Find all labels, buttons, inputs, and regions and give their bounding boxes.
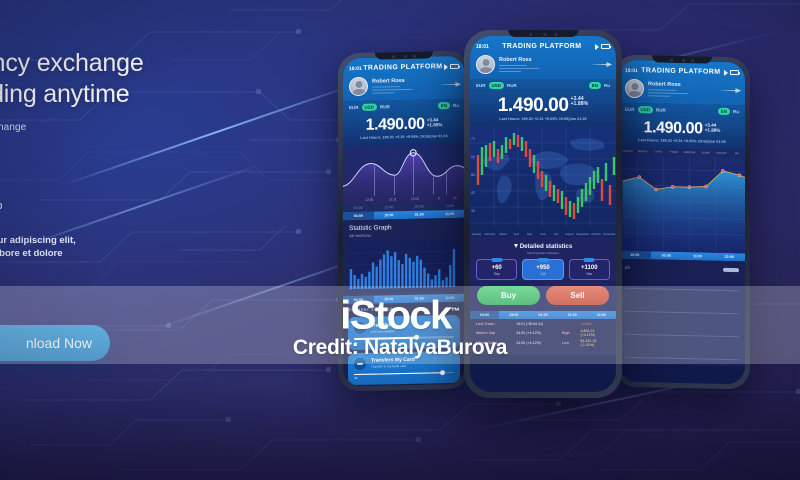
price-value: 1.490.00 bbox=[644, 120, 703, 137]
app-header: 18:01 TRADING PLATFORM Robert Ross bbox=[619, 60, 745, 106]
right-section-label: ph bbox=[625, 265, 630, 270]
last-hours-text: Last Hours: 199.31 +0.31 +0.05% 19:55|Ja… bbox=[625, 138, 739, 144]
user-name: Robert Ross bbox=[372, 78, 412, 85]
card-tag-icon bbox=[537, 258, 548, 262]
price-change-pct: +1.88% bbox=[571, 102, 589, 107]
month-label: September bbox=[576, 233, 589, 236]
currency-bar[interactable]: EUR USD RUR EN Ru bbox=[470, 79, 616, 92]
time-label[interactable]: 01:00 bbox=[404, 294, 435, 303]
user-name: Robert Ross bbox=[648, 81, 688, 88]
month-label: August bbox=[563, 233, 576, 236]
time-label[interactable]: 11:00 bbox=[682, 252, 714, 261]
status-time: 18:01 bbox=[349, 65, 362, 71]
table-row: Market Cap 34.00 (+4.12%) High 4,801.21 … bbox=[476, 329, 610, 337]
signal-icon bbox=[444, 64, 448, 70]
signal-icon bbox=[724, 69, 728, 75]
detailed-statistics-title: Detailed statistics bbox=[470, 237, 616, 250]
stat-key: Mined Coins bbox=[476, 341, 516, 345]
card-tag-icon bbox=[584, 258, 595, 262]
hero-subline: ons for exchange bbox=[0, 122, 248, 133]
floor-shadow bbox=[0, 388, 800, 480]
app-header: 18:01 TRADING PLATFORM Robert Ross bbox=[343, 56, 465, 102]
month-label: IMPERIAL bbox=[682, 151, 698, 154]
month-label: November bbox=[603, 233, 616, 236]
phone-notch bbox=[652, 55, 712, 63]
avatar bbox=[349, 77, 368, 96]
user-profile[interactable]: Robert Ross bbox=[349, 75, 459, 96]
lang-en[interactable]: EN bbox=[438, 102, 450, 109]
currency-eur[interactable]: EUR bbox=[625, 107, 635, 112]
table-row: Last Trade : 19:01 (^$144.41) -0.44% bbox=[476, 322, 610, 326]
profile-meta-bars bbox=[499, 65, 539, 72]
card-icon bbox=[354, 322, 366, 334]
uiux-title: I/UX bbox=[0, 167, 248, 198]
time-label[interactable]: 01:00 bbox=[528, 311, 557, 319]
buy-button[interactable]: Buy bbox=[477, 286, 540, 305]
currency-rur[interactable]: RUR bbox=[656, 107, 666, 112]
price-axis-label: 50 bbox=[471, 173, 475, 177]
download-now-button[interactable]: nload Now bbox=[0, 325, 110, 361]
phone-left-screen: 18:01 TRADING PLATFORM Robert Ross bbox=[343, 56, 465, 387]
time-label[interactable]: 11:00 bbox=[435, 210, 466, 219]
avatar bbox=[476, 55, 495, 74]
wave-marker-label: 12:00 bbox=[365, 198, 373, 202]
headline-line-2: , trading anytime bbox=[0, 79, 248, 110]
phone-notch bbox=[508, 30, 578, 37]
sell-button[interactable]: Sell bbox=[546, 286, 609, 305]
currency-usd[interactable]: USD bbox=[489, 82, 505, 89]
price-block: 1.490.00 +3.44 +1.88% Last Hours: 199.31… bbox=[470, 92, 616, 127]
avatar bbox=[625, 79, 644, 98]
time-label[interactable]: 15:00 bbox=[499, 311, 528, 319]
time-label[interactable]: 15:00 bbox=[619, 251, 651, 260]
status-icons bbox=[444, 63, 459, 69]
market-stats-table: Last Trade : 19:01 (^$144.41) -0.44% Mar… bbox=[470, 319, 616, 355]
area-chart bbox=[619, 155, 745, 254]
month-label: MARCH bbox=[635, 150, 651, 153]
battery-icon bbox=[450, 64, 459, 69]
time-label[interactable]: 22:00 bbox=[587, 311, 616, 319]
wave-chart: 12:00 11:11 16:02 0 16 bbox=[343, 144, 465, 205]
stat-month: Sep bbox=[479, 272, 514, 276]
time-axis-bar[interactable]: 04:00 15:00 01:00 11:00 22:00 bbox=[470, 311, 616, 319]
month-label: January bbox=[470, 233, 483, 236]
month-label: February bbox=[483, 233, 496, 236]
stat-card[interactable]: +1100 Nov bbox=[569, 259, 610, 280]
currency-usd[interactable]: USD bbox=[638, 106, 654, 113]
month-axis: January February March April May June Ju… bbox=[470, 233, 616, 236]
app-title: TRADING PLATFORM bbox=[502, 43, 581, 50]
headline-line-1: urrency exchange bbox=[0, 49, 144, 77]
battery-icon bbox=[601, 44, 610, 49]
month-label: July bbox=[550, 233, 563, 236]
lorem-line-1: , consectetur adipiscing elit, bbox=[0, 234, 248, 247]
lang-en[interactable]: EN bbox=[589, 82, 601, 89]
user-profile[interactable]: Robert Ross bbox=[625, 79, 739, 100]
stat-card[interactable]: +950 Oct bbox=[522, 259, 563, 280]
statistic-bar-chart bbox=[347, 239, 461, 293]
stat-value: +1100 bbox=[572, 265, 607, 271]
price-block: 1.490.00 +3.44 +1.88% Last Hours: 199.31… bbox=[343, 112, 465, 147]
price-axis-label: 60 bbox=[471, 155, 475, 159]
stat-value: +60 bbox=[479, 265, 514, 271]
month-label: April bbox=[510, 233, 523, 236]
chevron-down-icon bbox=[514, 244, 518, 248]
stat-val: 34.00 (+4.12%) bbox=[516, 331, 562, 335]
payment-card-transfers[interactable]: Transfers Low commission 20 bbox=[348, 315, 460, 350]
time-label[interactable]: 15:00 bbox=[374, 295, 405, 304]
currency-usd[interactable]: USD bbox=[362, 104, 378, 111]
currency-rur[interactable]: RUR bbox=[507, 83, 517, 88]
stat-val2: $1,421.33 (-1.41%) bbox=[580, 339, 609, 347]
phone-right: 18:01 TRADING PLATFORM Robert Ross bbox=[614, 55, 750, 390]
battery-icon bbox=[730, 70, 739, 75]
uiux-subtitle: Mobile App bbox=[0, 200, 248, 212]
stat-val: 19:01 (^$144.41) bbox=[516, 322, 562, 326]
card-tag-icon bbox=[491, 258, 502, 262]
poster-canvas: urrency exchange , trading anytime ons f… bbox=[0, 0, 800, 480]
lorem-line-2: didunt ut labore et dolore bbox=[0, 247, 248, 260]
stat-val2: -0.44% bbox=[580, 322, 609, 326]
stat-month: Oct bbox=[525, 272, 560, 276]
table-row: Mined Coins 34.00 (+4.12%) Low $1,421.33… bbox=[476, 339, 610, 347]
payment-value: 20 bbox=[354, 339, 454, 345]
stat-cards: +60 Sep +950 Oct +1100 Nov bbox=[470, 259, 616, 286]
time-label[interactable]: 04:00 bbox=[343, 296, 374, 305]
month-label: FORM bbox=[666, 151, 682, 154]
lang-ru[interactable]: Ru bbox=[604, 83, 610, 88]
hero-lorem: , consectetur adipiscing elit, didunt ut… bbox=[0, 234, 248, 260]
user-name: Robert Ross bbox=[499, 57, 539, 63]
phone-right-screen: 18:01 TRADING PLATFORM Robert Ross bbox=[619, 60, 745, 385]
price-value: 1.490.00 bbox=[366, 117, 425, 134]
status-icons bbox=[595, 44, 610, 50]
month-label: June bbox=[536, 233, 549, 236]
hero-copy: urrency exchange , trading anytime ons f… bbox=[0, 48, 248, 260]
app-title: TRADING PLATFORM bbox=[363, 63, 442, 72]
stat-key: Last Trade : bbox=[476, 322, 516, 326]
currency-eur[interactable]: EUR bbox=[349, 105, 359, 110]
month-label: SUMM bbox=[698, 151, 714, 154]
phone-left: 18:01 TRADING PLATFORM Robert Ross bbox=[338, 51, 470, 392]
wave-marker-label: 16 bbox=[453, 196, 457, 200]
stat-val2: 4,801.21 (+4.12%) bbox=[580, 329, 609, 337]
phone-notch bbox=[375, 51, 433, 59]
time-label[interactable]: 04:00 bbox=[470, 311, 499, 319]
last-hours-text: Last Hours: 199.31 +0.31 +0.05% 19:55|Ja… bbox=[349, 134, 459, 140]
currency-rur[interactable]: RUR bbox=[380, 104, 390, 109]
month-label: March bbox=[497, 233, 510, 236]
last-hours-text: Last Hours: 199.31 +0.31 +0.05% 19:55|Ja… bbox=[476, 117, 610, 121]
price-value: 1.490.00 bbox=[498, 96, 569, 115]
app-header: 18:01 TRADING PLATFORM Robert Ross bbox=[470, 36, 616, 79]
time-label[interactable]: 04:00 bbox=[343, 212, 374, 221]
time-label[interactable]: 11:00 bbox=[435, 294, 466, 303]
month-label: May bbox=[523, 233, 536, 236]
card-icon bbox=[354, 357, 366, 369]
price-axis-label: 40 bbox=[471, 191, 475, 195]
signal-icon bbox=[595, 44, 599, 50]
month-label: October bbox=[589, 233, 602, 236]
wave-marker-label: 0 bbox=[438, 196, 440, 200]
stat-key2: High bbox=[562, 331, 581, 335]
phone-center: 18:01 TRADING PLATFORM Robert Ross bbox=[464, 30, 622, 398]
stat-key: Market Cap bbox=[476, 331, 516, 335]
wave-marker-label: 16:02 bbox=[411, 197, 419, 201]
lang-en[interactable]: EN bbox=[718, 108, 730, 115]
status-time: 18:01 bbox=[625, 67, 638, 73]
payment-card-transfers-my-card[interactable]: Transfers My Card Transfer to my bank ca… bbox=[348, 350, 460, 385]
payment-desc: Low commission bbox=[371, 327, 454, 333]
toggle-icon[interactable] bbox=[723, 267, 739, 271]
app-title: TRADING PLATFORM bbox=[641, 67, 720, 76]
lang-ru[interactable]: Ru bbox=[453, 103, 459, 108]
payment-value: 40 bbox=[354, 374, 454, 380]
price-block: 1.490.00 +3.44 +1.88% Last Hours: 199.31… bbox=[619, 116, 745, 151]
wave-marker-label: 11:11 bbox=[389, 197, 397, 201]
month-label: AUGUST bbox=[714, 152, 730, 155]
payment-desc: Transfer to my bank card bbox=[371, 363, 454, 369]
stat-val: 34.00 (+4.12%) bbox=[516, 341, 562, 345]
phone-center-screen: 18:01 TRADING PLATFORM Robert Ross bbox=[470, 36, 616, 392]
status-time: 18:01 bbox=[476, 44, 489, 50]
time-label[interactable]: 01:00 bbox=[404, 210, 435, 219]
stat-value: +950 bbox=[525, 265, 560, 271]
currency-eur[interactable]: EUR bbox=[476, 83, 486, 88]
price-axis-label: 30 bbox=[471, 209, 475, 213]
hero-headline: urrency exchange , trading anytime bbox=[0, 48, 248, 110]
stat-card[interactable]: +60 Sep bbox=[476, 259, 517, 280]
status-icons bbox=[724, 69, 739, 75]
time-label[interactable]: 15:00 bbox=[374, 211, 405, 220]
month-label: MS bbox=[729, 152, 745, 155]
price-axis-label: 70 bbox=[471, 137, 475, 141]
user-profile[interactable]: Robert Ross bbox=[476, 55, 610, 74]
price-change-pct: +1.88% bbox=[427, 123, 443, 129]
candlestick-chart: 70 60 50 40 30 January February March Ap… bbox=[470, 127, 616, 237]
price-change-pct: +1.88% bbox=[705, 128, 721, 134]
profile-meta-bars bbox=[372, 86, 412, 94]
time-label[interactable]: 00:00 bbox=[651, 251, 683, 260]
time-label[interactable]: 22:00 bbox=[714, 253, 746, 262]
stat-month: Nov bbox=[572, 272, 607, 276]
trade-actions: Buy Sell bbox=[470, 286, 616, 311]
time-label[interactable]: 11:00 bbox=[558, 311, 587, 319]
stat-key2: Low bbox=[562, 341, 581, 345]
month-label: LATIN bbox=[651, 150, 667, 153]
profile-meta-bars bbox=[648, 89, 688, 97]
lang-ru[interactable]: Ru bbox=[733, 109, 739, 114]
